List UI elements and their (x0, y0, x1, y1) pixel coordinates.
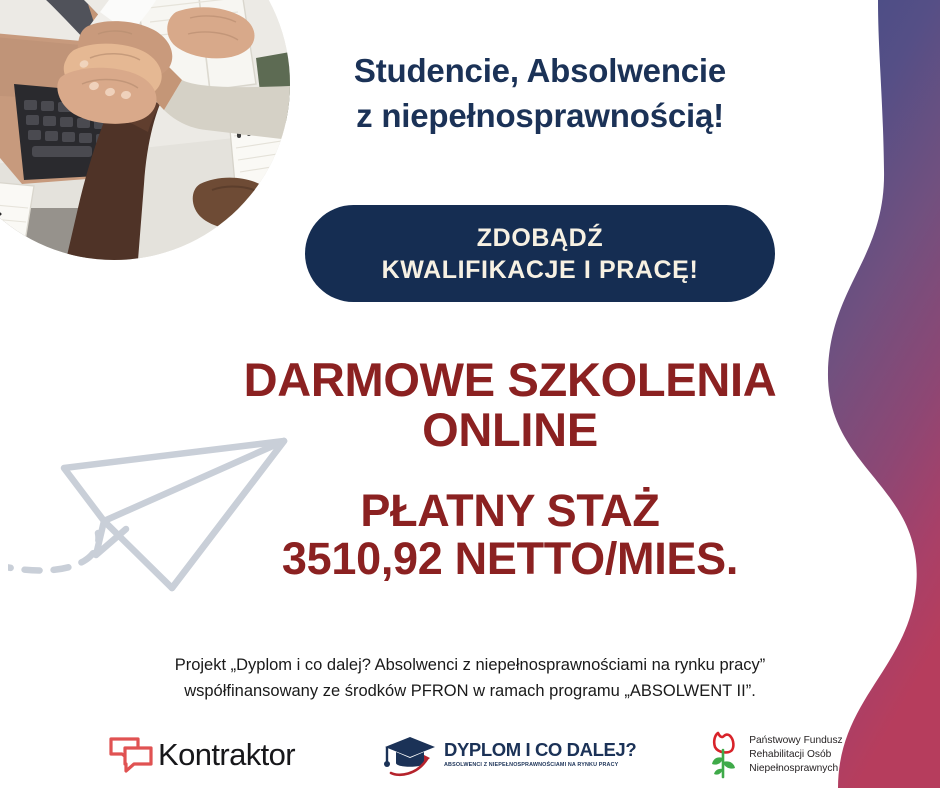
poster: Studencie, Absolwencie z niepełnosprawno… (0, 0, 940, 788)
internship-heading: PŁATNY STAŻ 3510,92 NETTO/MIES. (175, 487, 845, 582)
pfron-wordmark: Państwowy Fundusz Rehabilitacji Osób Nie… (749, 734, 842, 776)
graduation-cap-icon (381, 731, 437, 779)
logo-kontraktor: Kontraktor (108, 735, 295, 775)
cta-button[interactable]: ZDOBĄDŹ KWALIFIKACJE I PRACĘ! (305, 205, 775, 302)
project-funding-note: Projekt „Dyplom i co dalej? Absolwenci z… (80, 652, 860, 704)
cta-line-1: ZDOBĄDŹ (477, 222, 603, 254)
dyplom-subtitle: ABSOLWENCI Z NIEPEŁNOSPRAWNOŚCIAMI NA RY… (444, 763, 636, 768)
speech-bubbles-icon (108, 735, 154, 775)
page-title: Studencie, Absolwencie z niepełnosprawno… (290, 48, 790, 138)
cta-line-2: KWALIFIKACJE I PRACĘ! (382, 254, 699, 286)
logo-strip: Kontraktor DYPLOM I CO DALEJ? ABSOLWENCI… (0, 722, 860, 788)
training-heading: DARMOWE SZKOLENIA ONLINE (195, 355, 825, 455)
logo-dyplom-i-co-dalej: DYPLOM I CO DALEJ? ABSOLWENCI Z NIEPEŁNO… (381, 731, 636, 779)
pfron-line-3: Niepełnosprawnych (749, 762, 842, 776)
fineprint-line-1: Projekt „Dyplom i co dalej? Absolwenci z… (80, 652, 860, 678)
headline-line-1: Studencie, Absolwencie (354, 52, 726, 89)
teamwork-hands-photo (0, 0, 290, 260)
pfron-line-1: Państwowy Fundusz (749, 734, 842, 748)
internship-line-2: 3510,92 NETTO/MIES. (175, 535, 845, 583)
training-line-2: ONLINE (195, 405, 825, 455)
logo-pfron: Państwowy Fundusz Rehabilitacji Osób Nie… (708, 731, 842, 779)
training-line-1: DARMOWE SZKOLENIA (195, 355, 825, 405)
tulip-icon (708, 731, 742, 779)
internship-line-1: PŁATNY STAŻ (175, 487, 845, 535)
fineprint-line-2: współfinansowany ze środków PFRON w rama… (80, 678, 860, 704)
dyplom-title: DYPLOM I CO DALEJ? (444, 741, 636, 760)
pfron-line-2: Rehabilitacji Osób (749, 748, 842, 762)
headline-line-2: z niepełnosprawnością! (290, 93, 790, 138)
kontraktor-wordmark: Kontraktor (158, 737, 295, 773)
